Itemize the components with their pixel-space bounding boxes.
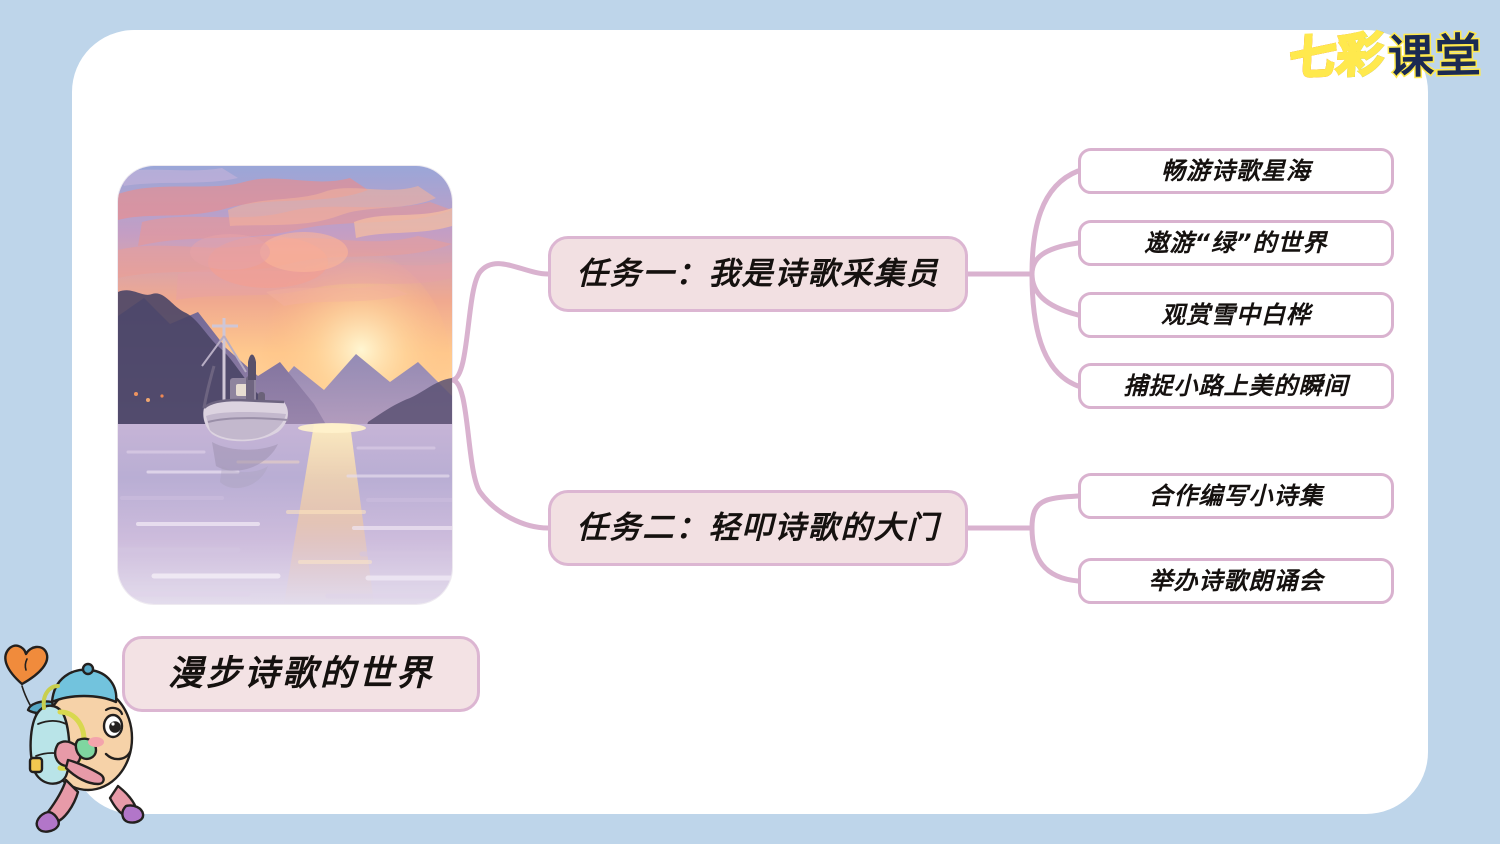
slide-canvas: 七彩 课堂	[0, 0, 1500, 844]
mindmap-branch-label-2: 任务二：轻叩诗歌的大门	[577, 513, 940, 544]
mascot-character	[0, 628, 152, 844]
mindmap-branch-node-1[interactable]: 任务一：我是诗歌采集员	[548, 236, 968, 312]
mascot-cap-icon	[52, 670, 116, 702]
mindmap-leaf-node[interactable]: 捕捉小路上美的瞬间	[1078, 363, 1394, 409]
mindmap-leaf-node[interactable]: 畅游诗歌星海	[1078, 148, 1394, 194]
mindmap-leaf-node[interactable]: 遨游“绿”的世界	[1078, 220, 1394, 266]
mindmap-leaf-label: 观赏雪中白桦	[1161, 303, 1311, 327]
brand-logo: 七彩 课堂	[1290, 26, 1482, 86]
mindmap-leaf-node[interactable]: 举办诗歌朗诵会	[1078, 558, 1394, 604]
brand-logo-dark-text: 课堂	[1388, 32, 1483, 80]
mindmap-leaf-label: 举办诗歌朗诵会	[1149, 569, 1324, 593]
mindmap-branch-node-2[interactable]: 任务二：轻叩诗歌的大门	[548, 490, 968, 566]
mindmap-leaf-label: 捕捉小路上美的瞬间	[1124, 374, 1349, 398]
mindmap-leaf-node[interactable]: 合作编写小诗集	[1078, 473, 1394, 519]
mascot-cheek	[88, 737, 104, 747]
sunset-lake-scene	[118, 166, 452, 604]
brand-logo-colored-text: 七彩	[1289, 30, 1390, 81]
egg-character-with-backpack-icon	[0, 628, 152, 844]
mindmap-leaf-label: 遨游“绿”的世界	[1145, 231, 1328, 255]
heart-balloon-icon	[5, 646, 47, 684]
mindmap-leaf-label: 合作编写小诗集	[1149, 484, 1324, 508]
mindmap-branch-label-1: 任务一：我是诗歌采集员	[577, 259, 940, 290]
mindmap-root-label: 漫步诗歌的世界	[168, 657, 434, 692]
mindmap-root-node[interactable]: 漫步诗歌的世界	[122, 636, 480, 712]
mindmap-leaf-node[interactable]: 观赏雪中白桦	[1078, 292, 1394, 338]
hero-illustration	[118, 166, 452, 604]
mindmap-leaf-label: 畅游诗歌星海	[1161, 159, 1311, 183]
